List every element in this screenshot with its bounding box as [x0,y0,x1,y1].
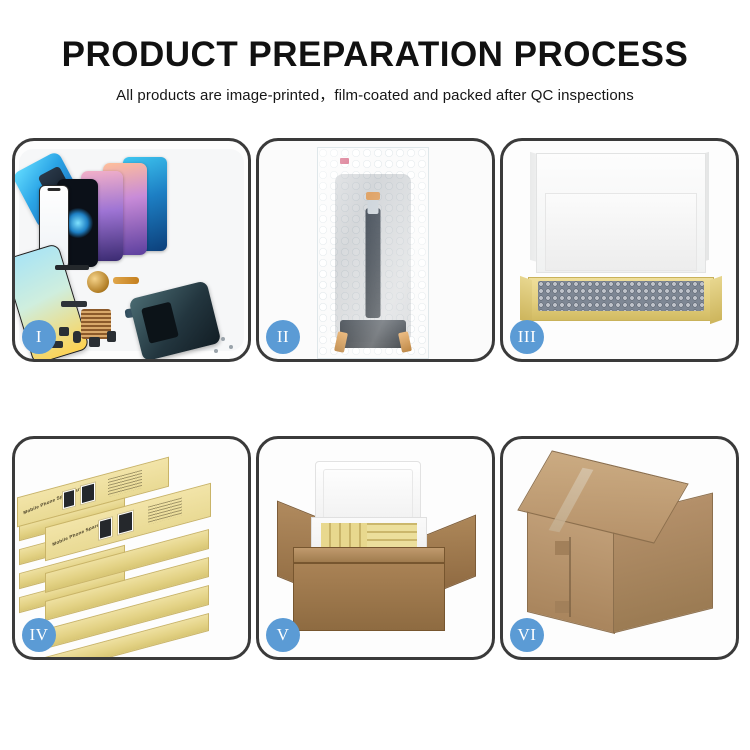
step-badge-1: I [22,320,56,354]
step-badge-4: IV [22,618,56,652]
process-step-panel-5[interactable]: V [256,436,495,660]
earpiece-mesh-icon [55,265,89,270]
speaker-coil-icon [87,271,109,293]
process-step-panel-1[interactable]: I [12,138,251,362]
small-part-icon [61,301,87,307]
component-icon [89,337,100,347]
component-icon [73,331,81,343]
process-step-panel-2[interactable]: II [256,138,495,362]
page-title: PRODUCT PREPARATION PROCESS [0,37,750,74]
process-step-panel-3[interactable]: III [500,138,739,362]
screw-icon [229,345,233,349]
process-step-grid: I II [12,138,738,684]
product-window [98,516,113,541]
step-badge-5: V [266,618,300,652]
plastic-sheen [318,148,428,358]
carton-corner-tab [555,601,569,613]
screw-icon [214,349,218,353]
product-window [117,509,134,536]
carton-body [293,563,445,631]
process-step-panel-6[interactable]: VI [500,436,739,660]
carton-rim [293,547,445,563]
step-badge-3: III [510,320,544,354]
flex-cable-icon [113,277,139,284]
page-header: PRODUCT PREPARATION PROCESS All products… [0,0,750,105]
page-subtitle: All products are image-printed，film-coat… [0,84,750,105]
product-window [80,481,96,505]
carton-edge-seam [569,537,571,617]
spec-text-block [108,470,142,497]
product-preparation-process-page: PRODUCT PREPARATION PROCESS All products… [0,0,750,750]
bubble-wrap-layer [538,281,704,311]
screw-icon [221,337,225,341]
step-badge-2: II [266,320,300,354]
bubble-wrap-bag [317,147,429,359]
component-icon [59,327,69,336]
product-window [62,488,76,511]
carton-corner-tab [555,541,569,555]
component-icon [107,331,116,342]
spec-text-block [148,498,182,525]
process-step-panel-4[interactable]: Mobile Phone Spare Parts Mobile Phone Sp… [12,436,251,660]
foam-sheet-icon [545,193,697,271]
step-badge-6: VI [510,618,544,652]
